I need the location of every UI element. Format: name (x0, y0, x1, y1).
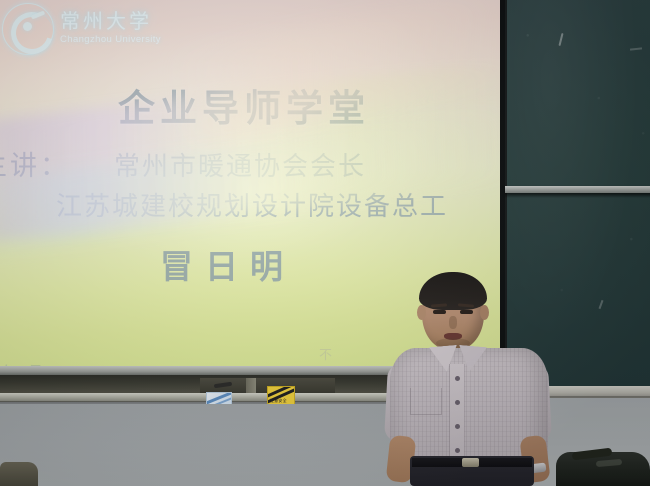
shirt-button-4 (455, 448, 460, 453)
blackboard-rail-shadow (505, 193, 650, 198)
slide-title: 企业导师学堂 (0, 78, 494, 132)
university-emblem-icon (2, 3, 52, 53)
presenter-ear-left (417, 305, 426, 320)
university-logo: 常州大学 Changzhou University (2, 0, 194, 56)
university-name-cn: 常州大学 (60, 10, 161, 32)
dark-bag (556, 452, 650, 486)
presenter-eye-left (433, 310, 446, 314)
slide-speaker-label: 主讲： (0, 144, 70, 183)
slide-credential-line-1: 常州市暖通协会会长 (114, 146, 366, 183)
presenter-belt-buckle (462, 458, 479, 467)
university-name-en: Changzhou University (60, 34, 161, 45)
presenter-shirt-pocket (410, 388, 442, 415)
shirt-button-2 (455, 400, 460, 405)
presenter-hair (419, 272, 487, 310)
slide-speaker-name: 冒日明 (160, 240, 295, 288)
tray-object-left (0, 462, 38, 486)
photo-scene: 常州大学 Changzhou University 企业导师学堂 主讲： 常州市… (0, 0, 650, 486)
yellow-warning-sign: 注意安全 (267, 386, 295, 406)
presenter-nose (449, 316, 457, 329)
presenter-eye-right (460, 310, 473, 314)
presenter-figure (386, 272, 556, 486)
blackboard-slide-rail (505, 186, 650, 193)
shirt-button-1 (455, 376, 460, 381)
slide-faint-mark-secondary: 不 (319, 344, 335, 363)
presenter-ear-right (480, 305, 489, 320)
slide-credential-line-2: 江苏城建校规划设计院设备总工 (56, 186, 448, 223)
shirt-button-3 (455, 424, 460, 429)
